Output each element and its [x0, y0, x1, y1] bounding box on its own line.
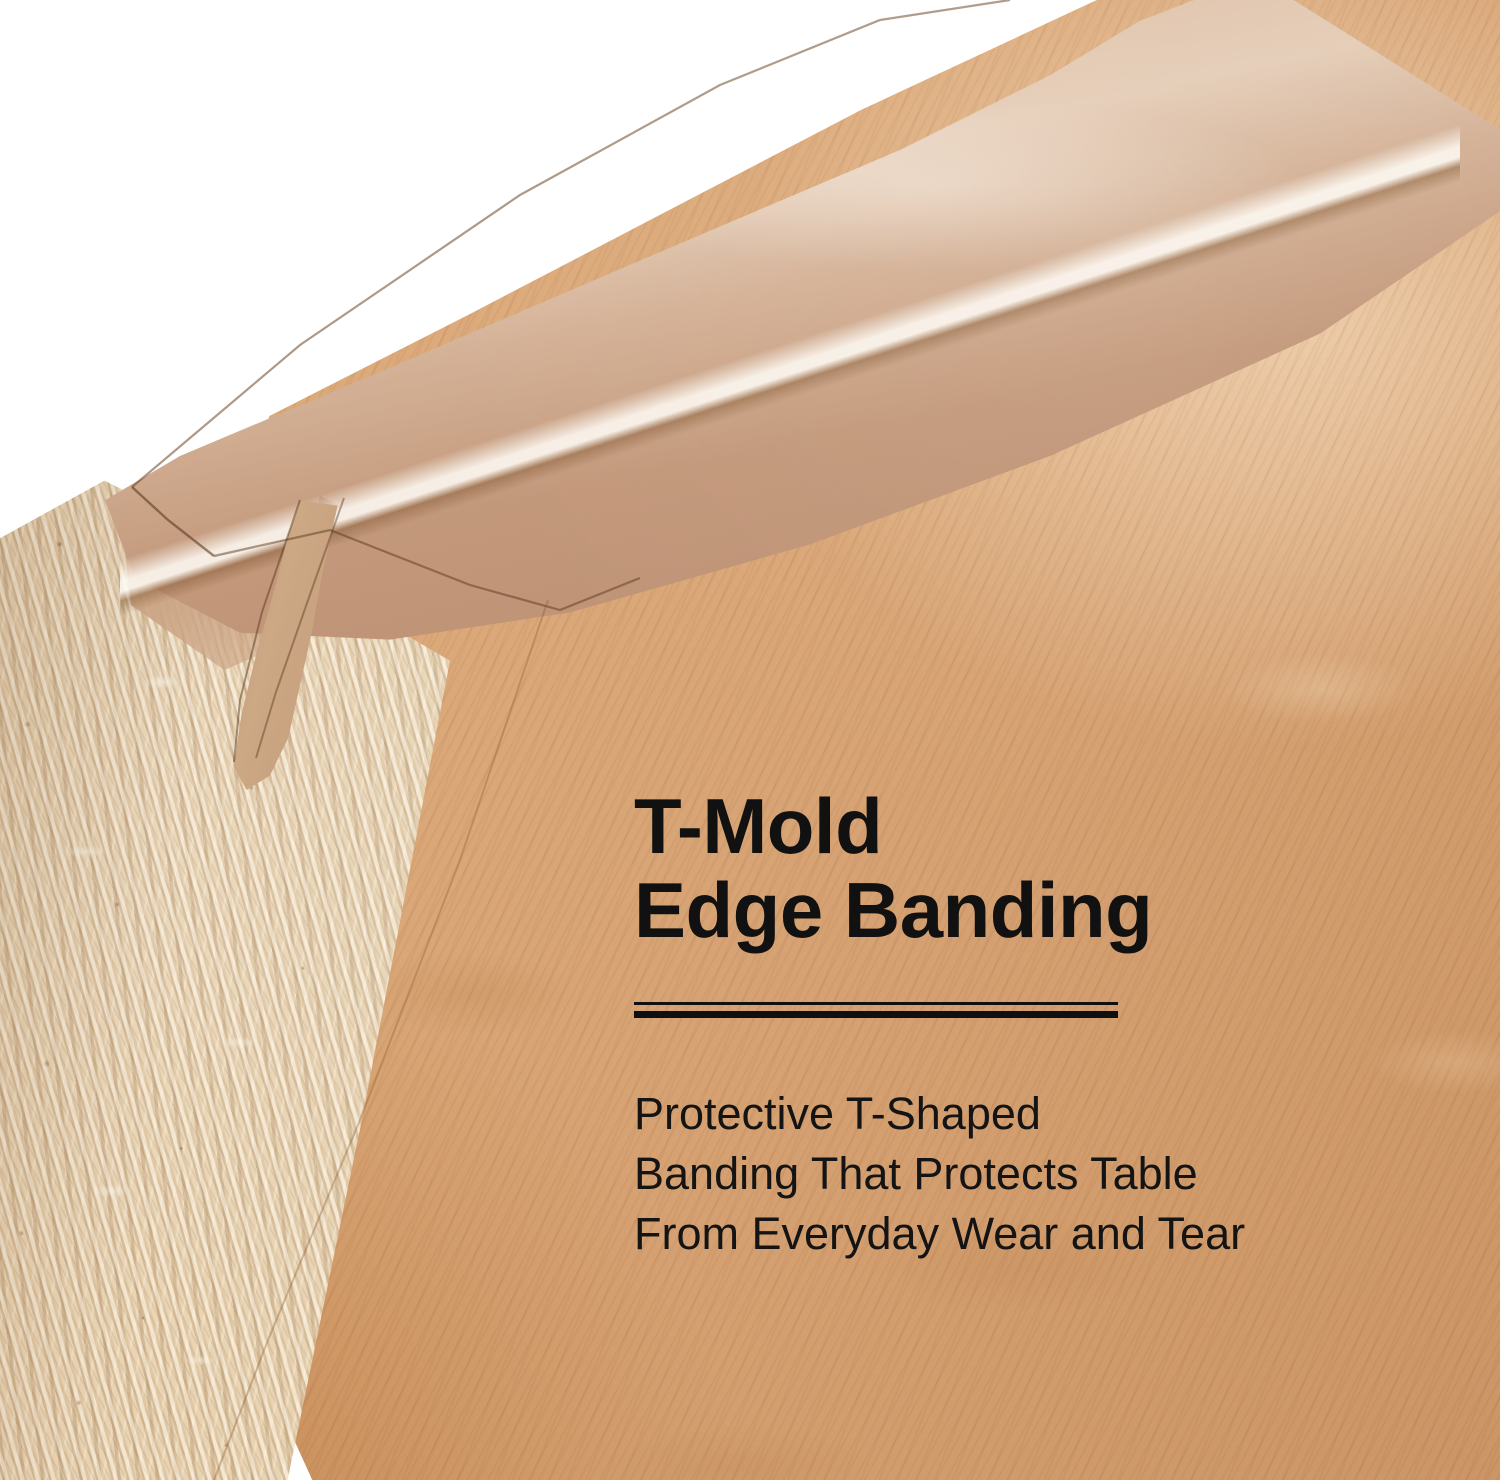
subheadline: Protective T-Shaped Banding That Protect…	[634, 1084, 1394, 1264]
marketing-copy-block: T-Mold Edge Banding Protective T-Shaped …	[634, 784, 1394, 1264]
divider	[634, 1002, 1118, 1018]
product-feature-image: T-Mold Edge Banding Protective T-Shaped …	[0, 0, 1500, 1480]
divider-line-bottom	[634, 1011, 1118, 1018]
divider-line-top	[634, 1002, 1118, 1005]
headline: T-Mold Edge Banding	[634, 784, 1394, 952]
